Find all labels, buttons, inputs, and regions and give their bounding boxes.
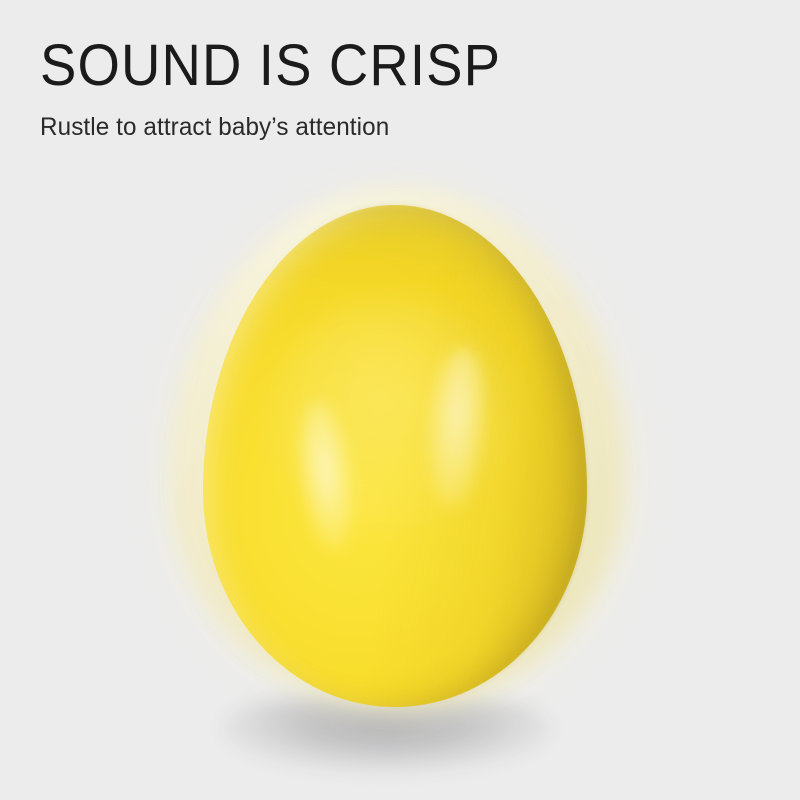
page-subtitle: Rustle to attract baby’s attention	[40, 98, 719, 142]
product-banner-stage: SOUND IS CRISP Rustle to attract baby’s …	[0, 0, 800, 800]
marketing-copy: SOUND IS CRISP Rustle to attract baby’s …	[40, 34, 740, 142]
page-title: SOUND IS CRISP	[40, 34, 698, 98]
